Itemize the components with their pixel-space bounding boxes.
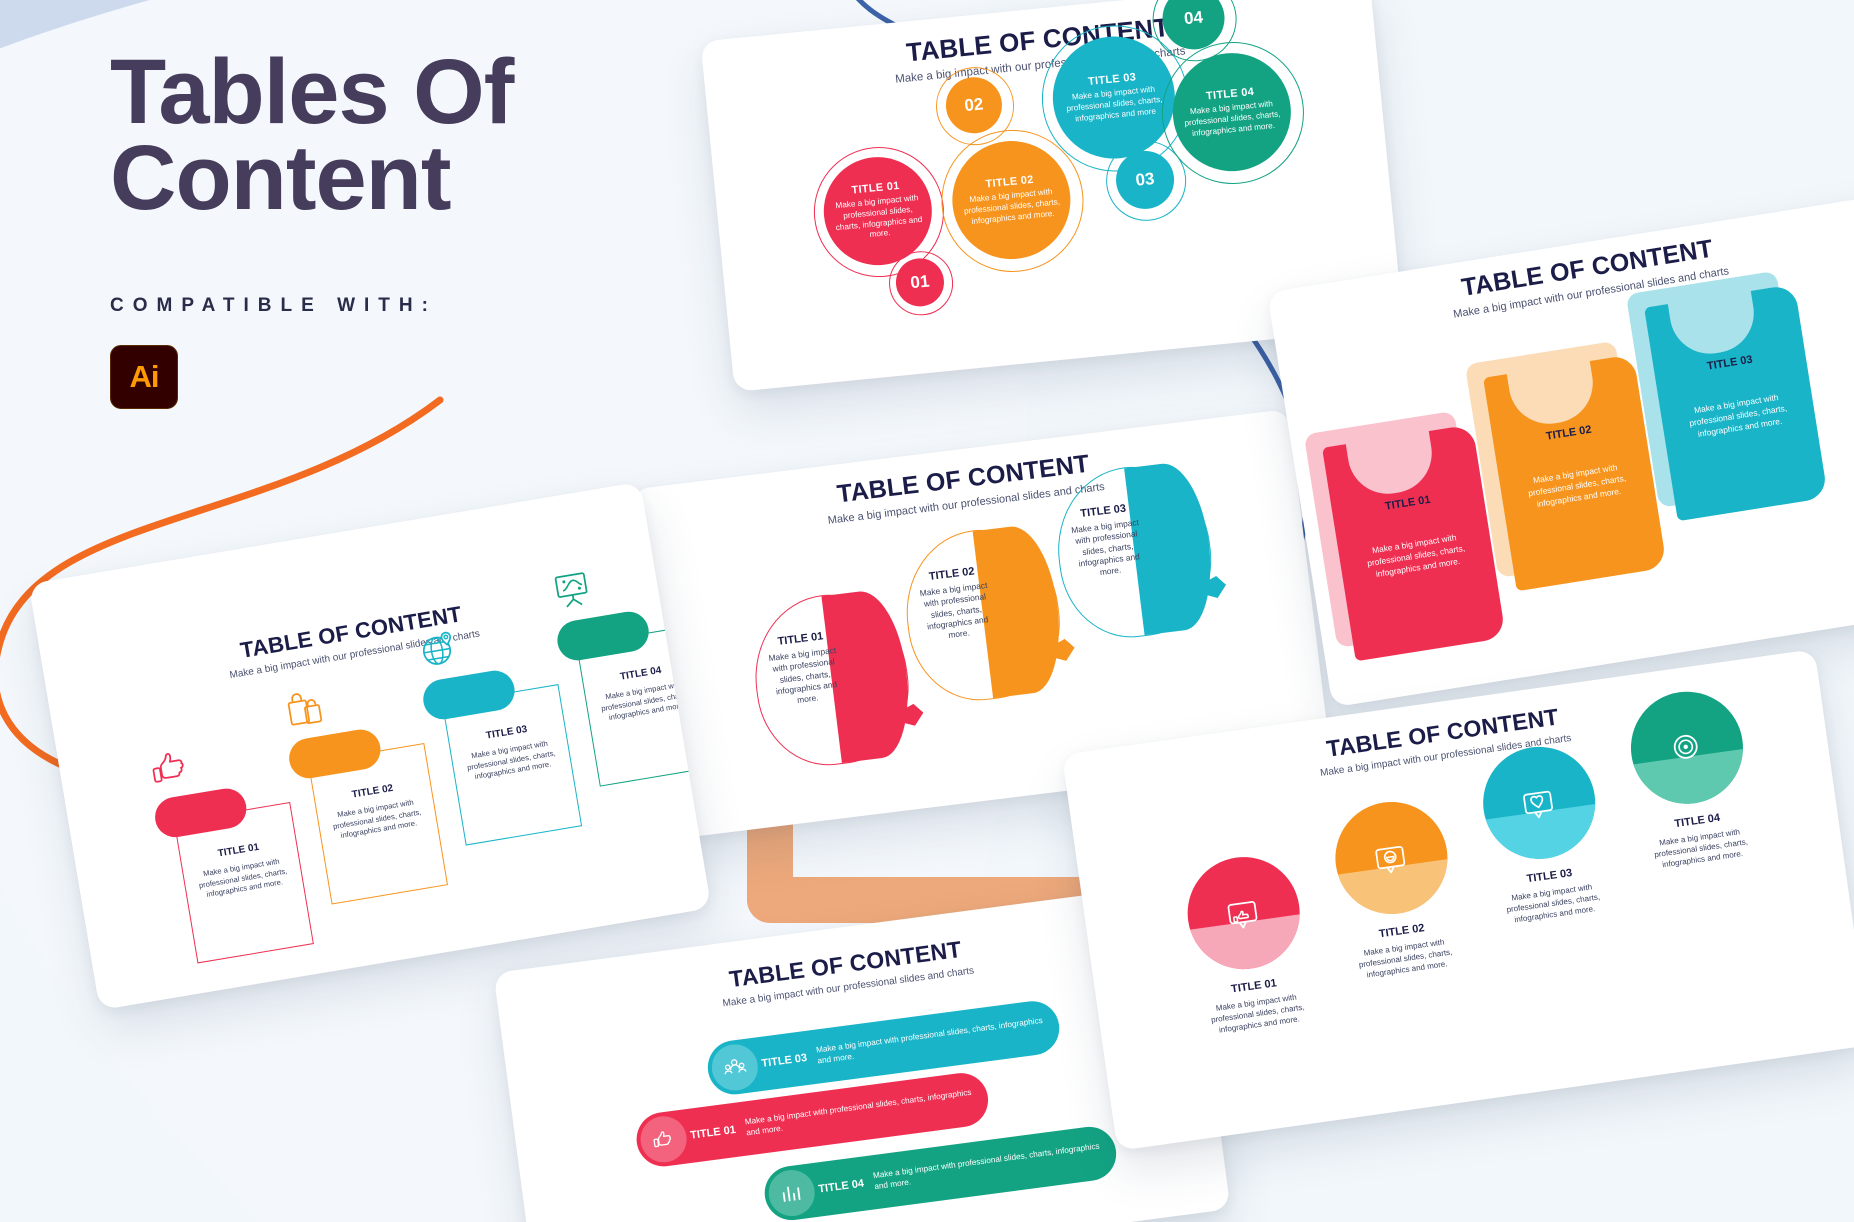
bar-item-4-title: TITLE 04 bbox=[818, 1178, 865, 1196]
balloon-item-3-body: Make a big impact with professional slid… bbox=[1064, 516, 1152, 582]
hero-block: Tables Of Content COMPATIBLE WITH: Ai bbox=[110, 50, 810, 409]
bookmark-item-2[interactable]: TITLE 02 Make a big impact with professi… bbox=[1483, 354, 1667, 591]
pill-card-2[interactable]: TITLE 02 Make a big impact with professi… bbox=[308, 743, 448, 905]
circle-item-2-title: TITLE 02 bbox=[985, 174, 1034, 191]
balloon-item-2[interactable]: TITLE 02 Make a big impact with professi… bbox=[897, 521, 1069, 708]
round-item-3[interactable]: TITLE 03 Make a big impact with professi… bbox=[1470, 739, 1617, 929]
round-item-4[interactable]: TITLE 04 Make a big impact with professi… bbox=[1618, 684, 1765, 874]
circle-item-4-title: TITLE 04 bbox=[1206, 86, 1255, 103]
thumbs-up-icon bbox=[1219, 888, 1269, 938]
heart-chat-icon bbox=[1514, 778, 1564, 828]
globe-pin-icon bbox=[414, 624, 465, 675]
chart-icon bbox=[766, 1167, 818, 1219]
round-item-1[interactable]: TITLE 01 Make a big impact with professi… bbox=[1174, 849, 1321, 1039]
balloon-item-2-body: Make a big impact with professional slid… bbox=[912, 579, 1000, 645]
chat-smile-icon bbox=[1367, 833, 1417, 883]
circle-item-1-title: TITLE 01 bbox=[851, 180, 900, 197]
thumbs-up-icon bbox=[638, 1114, 690, 1166]
circle-item-4-body: Make a big impact with professional slid… bbox=[1172, 98, 1293, 142]
bar-item-4-body: Make a big impact with professional slid… bbox=[872, 1140, 1117, 1193]
thumbs-up-icon bbox=[145, 742, 196, 793]
circle-item-3-title: TITLE 03 bbox=[1088, 72, 1137, 89]
balloon-item-1-body: Make a big impact with professional slid… bbox=[761, 644, 849, 710]
team-icon bbox=[709, 1042, 761, 1094]
bookmark-item-1[interactable]: TITLE 01 Make a big impact with professi… bbox=[1322, 424, 1506, 661]
page-title-line-2: Content bbox=[110, 127, 450, 229]
poster-stage: Tables Of Content COMPATIBLE WITH: Ai TA… bbox=[0, 0, 1854, 1222]
compatible-with-label: COMPATIBLE WITH: bbox=[110, 295, 810, 317]
bar-item-1-title: TITLE 01 bbox=[690, 1124, 737, 1142]
bar-item-3-body: Make a big impact with professional slid… bbox=[816, 1014, 1061, 1067]
shopping-bag-icon bbox=[280, 683, 331, 734]
bar-item-3-title: TITLE 03 bbox=[761, 1052, 808, 1070]
round-item-2[interactable]: TITLE 02 Make a big impact with professi… bbox=[1322, 794, 1469, 984]
circle-item-2-body: Make a big impact with professional slid… bbox=[952, 186, 1073, 230]
presentation-board-icon bbox=[548, 565, 599, 616]
target-icon bbox=[1662, 723, 1712, 773]
circle-item-3-body: Make a big impact with professional slid… bbox=[1052, 83, 1177, 127]
adobe-illustrator-icon: Ai bbox=[110, 345, 178, 409]
pill-card-3[interactable]: TITLE 03 Make a big impact with professi… bbox=[442, 684, 582, 846]
pill-card-1[interactable]: TITLE 01 Make a big impact with professi… bbox=[174, 802, 314, 964]
balloon-item-1[interactable]: TITLE 01 Make a big impact with professi… bbox=[746, 586, 918, 773]
bar-item-1-body: Make a big impact with professional slid… bbox=[744, 1086, 989, 1139]
circle-item-1-body: Make a big impact with professional slid… bbox=[823, 192, 935, 246]
bookmark-item-3[interactable]: TITLE 03 Make a big impact with professi… bbox=[1644, 284, 1828, 521]
